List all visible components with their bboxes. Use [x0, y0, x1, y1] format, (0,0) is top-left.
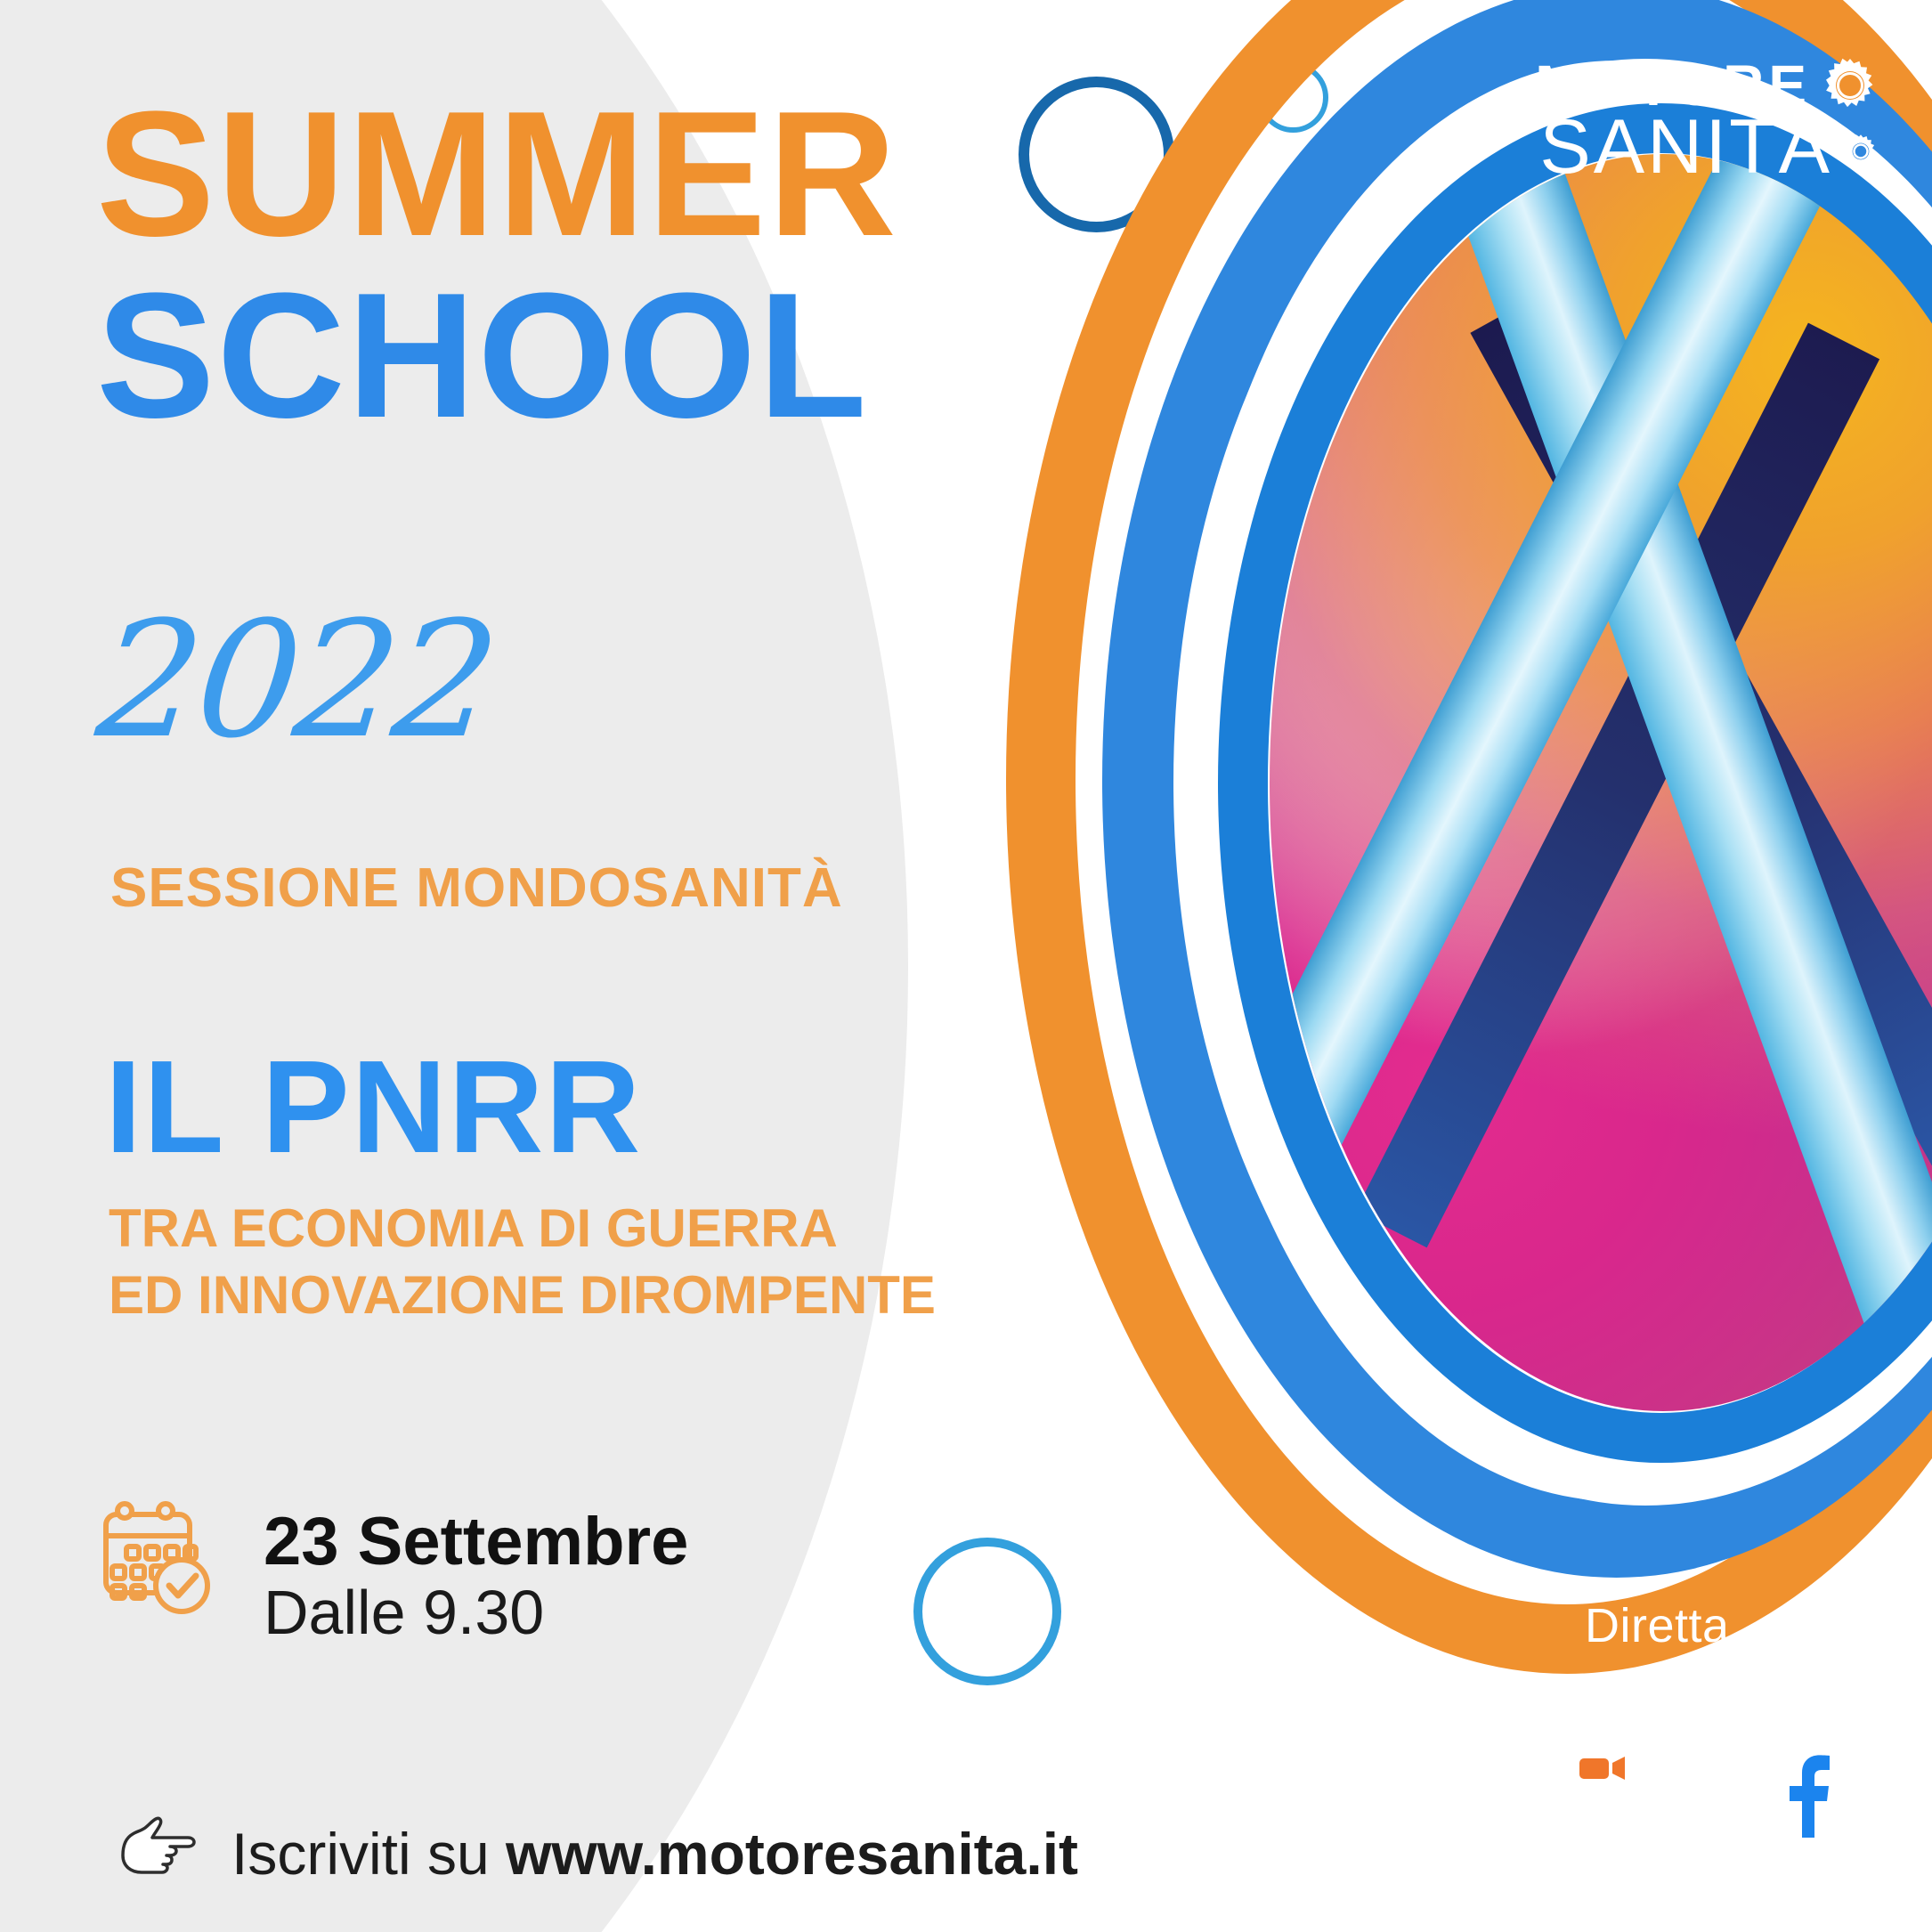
title-summer: SUMMER [96, 85, 898, 264]
abstract-ring-graphic [1006, 0, 1932, 1674]
logo-sanita-text: SANITÀ [1539, 109, 1832, 185]
event-date-block: 23 Settembre Dalle 9.30 [100, 1500, 688, 1647]
gear-icon [1843, 134, 1879, 169]
poster-canvas: MOTORE SANITÀ [0, 0, 1932, 1932]
cta-url[interactable]: www.motoresanita.it [506, 1821, 1078, 1887]
headline-main: IL PNRR [105, 1042, 642, 1173]
title-year: 2022 [90, 588, 503, 774]
pointing-hand-icon [112, 1816, 199, 1891]
event-date-day: 23 Settembre [264, 1506, 688, 1579]
registration-cta[interactable]: Iscriviti su www.motoresanita.it [112, 1816, 1078, 1891]
live-platforms: zoom [1540, 1725, 1861, 1866]
zoom-camera-icon [1560, 1725, 1645, 1811]
session-label: SESSIONE MONDOSANITÀ [110, 856, 843, 920]
cta-text: Iscriviti su www.motoresanita.it [231, 1820, 1078, 1887]
headline-subtitle-line2: ED INNOVAZIONE DIROMPENTE [109, 1264, 936, 1326]
brand-logo: MOTORE SANITÀ [1505, 57, 1879, 185]
cta-prefix: Iscriviti su [231, 1821, 490, 1887]
calendar-check-icon [100, 1500, 217, 1618]
live-label: Diretta [1585, 1598, 1730, 1653]
logo-bottom-row: SANITÀ [1505, 114, 1879, 185]
title-school: SCHOOL [96, 267, 869, 445]
event-date-time: Dalle 9.30 [264, 1579, 688, 1647]
zoom-label: zoom [1540, 1820, 1665, 1866]
zoom-logo[interactable]: zoom [1540, 1725, 1665, 1866]
event-date-text: 23 Settembre Dalle 9.30 [264, 1500, 688, 1647]
facebook-icon[interactable] [1740, 1729, 1861, 1854]
headline-subtitle-line1: TRA ECONOMIA DI GUERRA [109, 1197, 838, 1259]
